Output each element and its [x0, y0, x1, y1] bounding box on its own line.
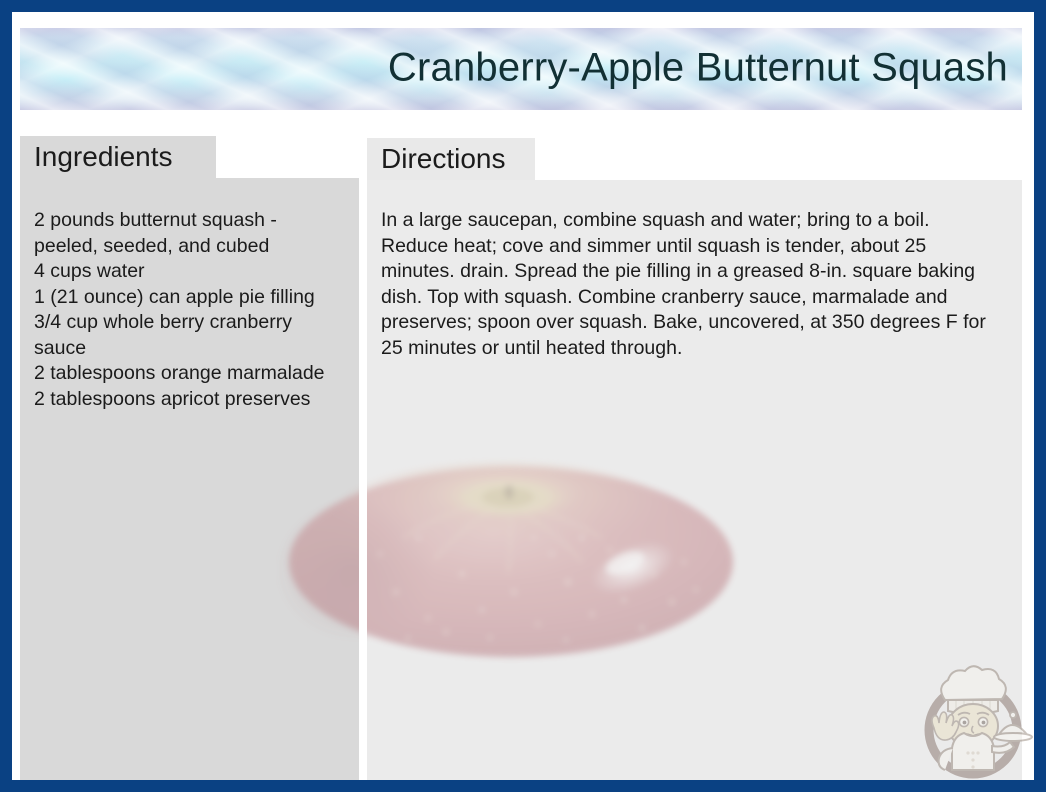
recipe-card-inner: Cranberry-Apple Butternut Squash [12, 12, 1034, 780]
tab-directions[interactable]: Directions [367, 138, 535, 180]
directions-content: In a large saucepan, combine squash and … [367, 180, 1022, 780]
directions-text: In a large saucepan, combine squash and … [367, 180, 1022, 361]
tab-ingredients-label: Ingredients [34, 141, 173, 173]
tab-ingredients[interactable]: Ingredients [20, 136, 216, 178]
ingredients-list: 2 pounds butternut squash - peeled, seed… [20, 178, 367, 412]
page-title: Cranberry-Apple Butternut Squash [388, 46, 1008, 91]
recipe-card: Cranberry-Apple Butternut Squash [0, 0, 1046, 792]
title-banner: Cranberry-Apple Butternut Squash [20, 28, 1022, 110]
ingredients-content: 2 pounds butternut squash - peeled, seed… [20, 178, 367, 780]
tab-directions-label: Directions [381, 143, 505, 175]
